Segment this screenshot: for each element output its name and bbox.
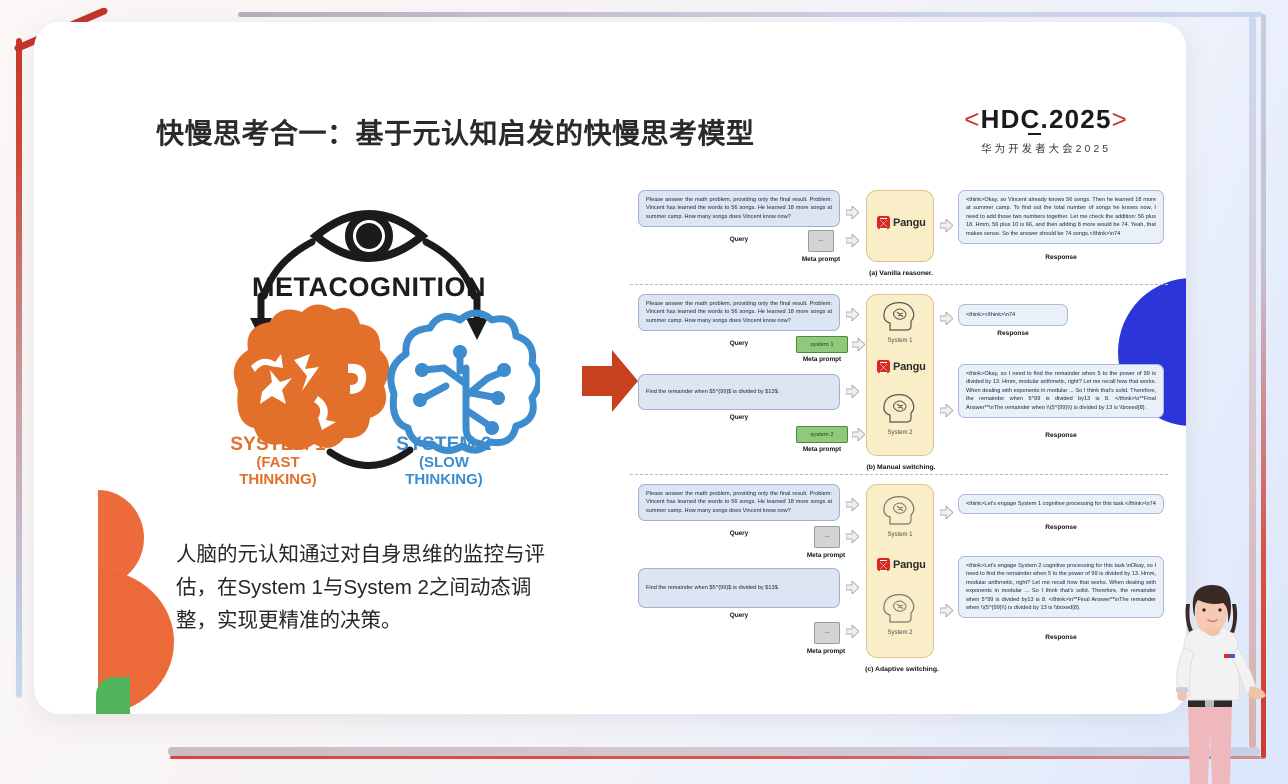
- flow-arrow-icon: [846, 234, 859, 247]
- pangu-label: Pangu: [893, 559, 926, 571]
- flow-arrow-icon: [940, 219, 953, 232]
- pangu-logo-c: Pangu: [877, 558, 926, 571]
- system1-head-label: System 1: [880, 338, 920, 344]
- head-brain-icon: [880, 494, 920, 526]
- brain-icon-system1: [234, 304, 389, 450]
- system1-desc-2: THINKING): [212, 472, 344, 489]
- system1-head-label: System 1: [880, 532, 920, 538]
- pangu-logo-b: Pangu: [877, 360, 926, 373]
- hdc-logo-subtitle: 华为开发者大会2025: [964, 141, 1128, 156]
- query-label-b2: Query: [638, 414, 840, 421]
- system2-label: SYSTEM 2 (SLOW THINKING): [378, 434, 510, 489]
- query-box-c2: Find the remainder when $5^{99}$ is divi…: [638, 568, 840, 608]
- meta-prompt-label-a: Meta prompt: [782, 256, 860, 263]
- response-box-c2: <think>Let's engage System 2 cognitive p…: [958, 556, 1164, 618]
- system2-desc-2: THINKING): [378, 472, 510, 489]
- flow-arrow-icon: [846, 581, 859, 594]
- flow-arrow-icon: [940, 604, 953, 617]
- body-caption: 人脑的元认知通过对自身思维的监控与评估，在System 1与System 2之间…: [176, 538, 568, 638]
- section-caption-c: (c) Adaptive switching.: [850, 666, 954, 673]
- flow-arrow-icon: [846, 625, 859, 638]
- pangu-mark-icon: [877, 558, 890, 571]
- hdc-logo-bracket-right: >: [1112, 104, 1128, 134]
- response-box-b2: <think>Okay, so I need to find the remai…: [958, 364, 1164, 418]
- head-brain-icon: [880, 392, 920, 424]
- flow-arrow-icon: [846, 385, 859, 398]
- response-box-c1: <think>Let's engage System 1 cognitive p…: [958, 494, 1164, 514]
- response-box-a: <think>Okay, so Vincent already knows 56…: [958, 190, 1164, 244]
- pangu-logo-a: Pangu: [877, 216, 926, 229]
- response-label-c1: Response: [958, 524, 1164, 531]
- meta-prompt-box-c2: --: [814, 622, 840, 644]
- section-caption-b: (b) Manual switching.: [854, 464, 948, 471]
- page-title: 快慢思考合一：基于元认知启发的快慢思考模型: [156, 112, 755, 152]
- flow-arrow-icon: [846, 206, 859, 219]
- query-label-c2: Query: [638, 612, 840, 619]
- frame-bottom-accent-line: [170, 756, 1266, 759]
- frame-top-line: [238, 12, 1262, 17]
- response-label-b1: Response: [958, 330, 1068, 337]
- hdc-logo-bracket-left: <: [964, 104, 980, 134]
- brain-icon-system2: [391, 313, 539, 451]
- meta-prompt-badge-system1: system 1: [796, 336, 848, 353]
- response-label-c2: Response: [958, 634, 1164, 641]
- query-box-c1: Please answer the math problem, providin…: [638, 484, 840, 521]
- hdc-logo: <HDC.2025> 华为开发者大会2025: [964, 106, 1128, 156]
- hdc-logo-underline: [1028, 133, 1041, 135]
- flow-arrow-icon: [852, 338, 865, 351]
- metacognition-title: METACOGNITION: [198, 272, 540, 303]
- diagram-section-a: Please answer the math problem, providin…: [630, 186, 1168, 274]
- eye-icon: [316, 214, 422, 258]
- meta-prompt-label-c2: Meta prompt: [782, 648, 870, 655]
- system1-head-icon: System 1: [880, 300, 920, 344]
- flow-arrow-icon: [846, 530, 859, 543]
- pangu-label: Pangu: [893, 217, 926, 229]
- meta-prompt-label-c1: Meta prompt: [782, 552, 870, 559]
- meta-prompt-box-c1: --: [814, 526, 840, 548]
- flow-arrow-icon: [940, 312, 953, 325]
- flow-arrow-icon: [852, 428, 865, 441]
- section-caption-a: (a) Vanilla reasoner.: [854, 270, 948, 277]
- flow-arrow-icon: [940, 506, 953, 519]
- head-brain-icon: [880, 592, 920, 624]
- pangu-mark-icon: [877, 216, 890, 229]
- flow-arrow-icon: [940, 404, 953, 417]
- system2-head-icon-c: System 2: [880, 592, 920, 636]
- frame-left-accent-line: [16, 38, 22, 698]
- presenter-avatar: [1150, 584, 1270, 784]
- hdc-logo-main: <HDC.2025>: [964, 106, 1128, 132]
- system2-head-label: System 2: [880, 630, 920, 636]
- flow-arrow-icon: [846, 498, 859, 511]
- system1-label: SYSTEM 1 (FAST THINKING): [212, 434, 344, 489]
- response-label-a: Response: [958, 254, 1164, 261]
- frame-bottom-line: [168, 747, 1260, 756]
- pangu-mark-icon: [877, 360, 890, 373]
- pangu-label: Pangu: [893, 361, 926, 373]
- metacognition-figure: METACOGNITION SYSTEM 1 (FAST THINKING) S…: [198, 184, 540, 524]
- head-brain-icon: [880, 300, 920, 332]
- system2-desc-1: (SLOW: [378, 455, 510, 472]
- system2-head-icon: System 2: [880, 392, 920, 436]
- query-box-a: Please answer the math problem, providin…: [638, 190, 840, 227]
- hdc-logo-text: HDC.2025: [981, 104, 1112, 134]
- system2-name: SYSTEM 2: [378, 434, 510, 455]
- slide-card: 快慢思考合一：基于元认知启发的快慢思考模型 <HDC.2025> 华为开发者大会…: [34, 22, 1186, 714]
- system1-name: SYSTEM 1: [212, 434, 344, 455]
- meta-prompt-label-b2: Meta prompt: [778, 446, 866, 453]
- query-box-b1: Please answer the math problem, providin…: [638, 294, 840, 331]
- response-label-b2: Response: [958, 432, 1164, 439]
- diagram-section-b: Please answer the math problem, providin…: [630, 292, 1168, 478]
- method-diagram: Please answer the math problem, providin…: [630, 186, 1168, 686]
- system1-head-icon-c: System 1: [880, 494, 920, 538]
- meta-prompt-badge-system2: system 2: [796, 426, 848, 443]
- response-box-b1: <think></think>\n74: [958, 304, 1068, 326]
- diagram-section-c: Please answer the math problem, providin…: [630, 482, 1168, 682]
- system1-desc-1: (FAST: [212, 455, 344, 472]
- flow-arrow-icon: [846, 308, 859, 321]
- query-box-b2: Find the remainder when $5^{99}$ is divi…: [638, 374, 840, 410]
- meta-prompt-box-a: --: [808, 230, 834, 252]
- system2-head-label: System 2: [880, 430, 920, 436]
- query-label-c1: Query: [638, 530, 840, 537]
- meta-prompt-label-b1: Meta prompt: [778, 356, 866, 363]
